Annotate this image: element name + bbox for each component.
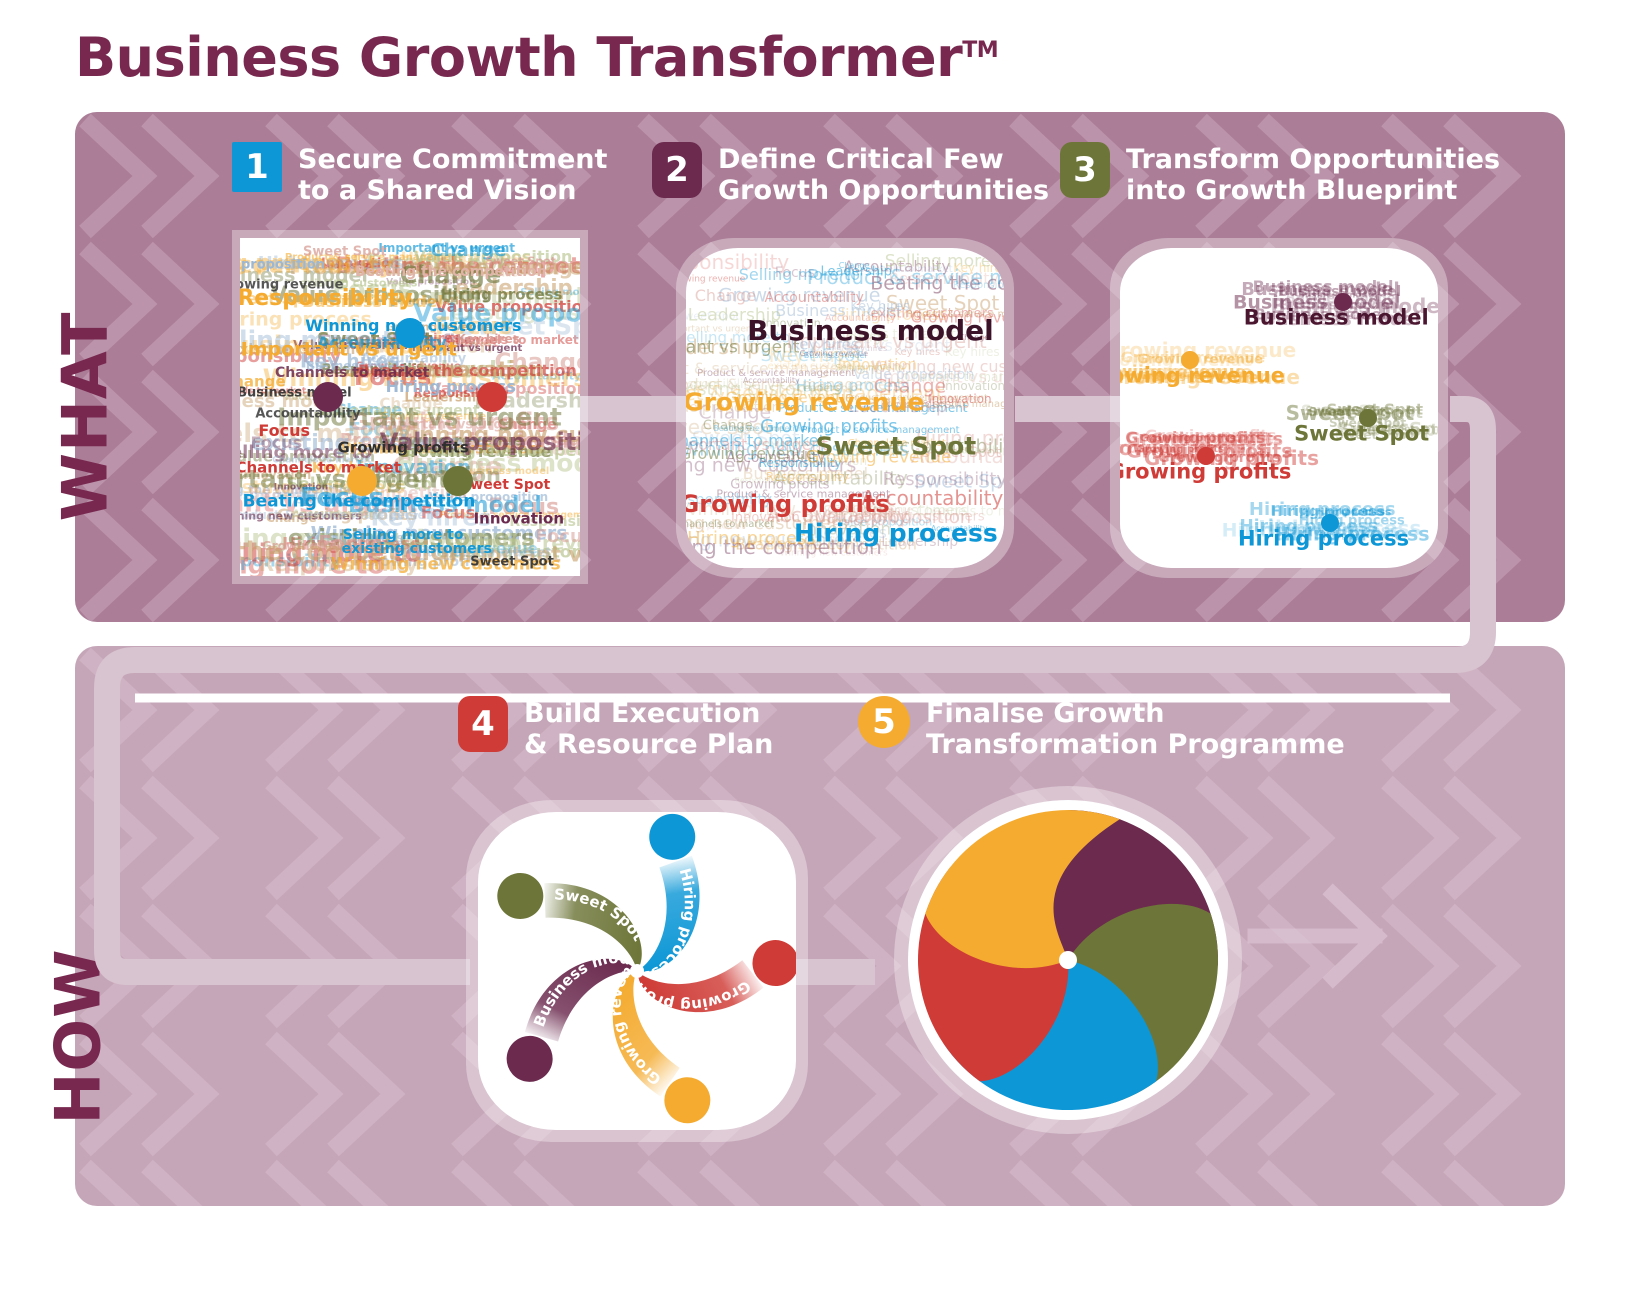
theme-highlight-business-model: Business model — [747, 317, 994, 345]
theme-dot-hiring-process — [395, 318, 425, 348]
cloud-word-highlight: Key hires — [457, 333, 520, 345]
panel-4-pinwheel[interactable]: Business modelSweet SpotHiring processGr… — [478, 812, 796, 1130]
panel-1-word-cloud[interactable]: Growing profitsSelling more toProduct & … — [240, 238, 580, 576]
cloud-word-highlight: existing customers — [342, 542, 492, 556]
step-badge-3: 3 — [1060, 142, 1110, 198]
cluster-dot-growing-revenue — [1181, 351, 1199, 369]
cluster-dot-hiring-process — [1321, 514, 1339, 532]
cloud-word-highlight: Growing revenue — [240, 279, 344, 292]
cloud-word: Growing revenue — [686, 275, 745, 284]
cloud-word: Focus — [535, 528, 580, 546]
panel-2-word-cloud[interactable]: existing customersWinning new customersR… — [686, 248, 1004, 568]
wheel-hub — [1059, 951, 1077, 969]
step-header-2[interactable]: 2 Define Critical Few Growth Opportuniti… — [652, 142, 1049, 207]
pinwheel-end-dot — [646, 812, 699, 863]
theme-highlight-growing-profits: Growing profits — [686, 492, 890, 516]
step-badge-2: 2 — [652, 142, 702, 198]
section-label-how: HOW — [42, 937, 115, 1137]
theme-dot-growing-profits — [477, 382, 507, 412]
theme-dot-growing-revenue — [347, 466, 377, 496]
theme-highlight-sweet-spot: Sweet Spot — [816, 434, 977, 459]
cloud-word-highlight: Accountability — [255, 407, 360, 420]
step-badge-4: 4 — [458, 696, 508, 752]
programme-wheel-diagram — [908, 800, 1228, 1120]
cluster-word: Growing profits — [1125, 430, 1265, 446]
cluster-label-sweet-spot: Sweet Spot — [1294, 423, 1429, 444]
cluster-dot-growing-profits — [1197, 447, 1215, 465]
step-header-4[interactable]: 4 Build Execution & Resource Plan — [458, 696, 773, 761]
cloud-word-highlight: Growing profits — [338, 440, 469, 455]
cloud-word-highlight: Sweet Spot — [470, 556, 554, 569]
panel-3-clusters[interactable]: Business modelBusiness modelBusiness mod… — [1120, 248, 1438, 568]
cloud-word: Change — [695, 288, 756, 304]
step-badge-5: 5 — [858, 696, 910, 748]
cloud-word: Responsibility — [953, 281, 1004, 291]
theme-highlight-growing-revenue: Growing revenue — [686, 389, 924, 414]
cloud-word: Change — [839, 262, 870, 270]
step-badge-1: 1 — [232, 142, 282, 192]
theme-dot-sweet-spot — [443, 466, 473, 496]
word-cloud-divergent: Growing profitsSelling more toProduct & … — [240, 238, 580, 576]
cloud-word-highlight: Focus — [258, 423, 310, 439]
section-label-what: WHAT — [49, 302, 122, 532]
cloud-word-highlight: Important vs urgent — [241, 340, 457, 359]
pinwheel-diagram: Business modelSweet SpotHiring processGr… — [478, 812, 796, 1130]
page-title: Business Growth TransformerTM — [75, 26, 998, 89]
cloud-word-highlight: Channels to market — [240, 460, 401, 475]
cloud-word: Responsibility — [882, 471, 1004, 489]
cluster-label-growing-revenue: Growing revenue — [1120, 366, 1285, 387]
cloud-word-highlight: Beating the competition — [355, 265, 547, 279]
theme-dot-business-model — [313, 382, 343, 412]
step-title-2: Define Critical Few Growth Opportunities — [718, 142, 1049, 207]
step-header-5[interactable]: 5 Finalise Growth Transformation Program… — [858, 696, 1345, 761]
theme-highlight-hiring-process: Hiring process — [794, 520, 998, 545]
cloud-word-highlight: Innovation — [474, 511, 564, 526]
cloud-word-highlight: Value proposition — [240, 259, 325, 272]
cluster-label-hiring-process: Hiring process — [1238, 529, 1409, 550]
cluster-dot-business-model — [1334, 293, 1352, 311]
cloud-word: Selling more to — [885, 253, 1004, 270]
word-cloud-clustered: Business modelBusiness modelBusiness mod… — [1120, 248, 1438, 568]
step-header-3[interactable]: 3 Transform Opportunities into Growth Bl… — [1060, 142, 1500, 207]
cluster-label-business-model: Business model — [1244, 308, 1429, 329]
step-title-5: Finalise Growth Transformation Programme — [926, 696, 1345, 761]
panel-5-programme-wheel[interactable] — [908, 800, 1228, 1120]
cloud-word-highlight: Sweet Spot — [460, 478, 550, 492]
pinwheel-hub — [630, 964, 644, 978]
step-header-1[interactable]: 1 Secure Commitment to a Shared Vision — [232, 142, 607, 207]
cluster-dot-sweet-spot — [1359, 409, 1377, 427]
outgoing-arrow-icon — [1255, 894, 1377, 978]
pinwheel-end-dot — [494, 870, 546, 922]
word-cloud-critical-few: existing customersWinning new customersR… — [686, 248, 1004, 568]
trademark-symbol: TM — [962, 38, 998, 63]
step-title-4: Build Execution & Resource Plan — [524, 696, 773, 761]
step-title-1: Secure Commitment to a Shared Vision — [298, 142, 607, 207]
step-title-3: Transform Opportunities into Growth Blue… — [1126, 142, 1500, 207]
page-title-text: Business Growth Transformer — [75, 26, 962, 89]
title-bar: Business Growth TransformerTM — [75, 26, 998, 89]
pinwheel-arm-label: Growing profits — [624, 898, 796, 1130]
